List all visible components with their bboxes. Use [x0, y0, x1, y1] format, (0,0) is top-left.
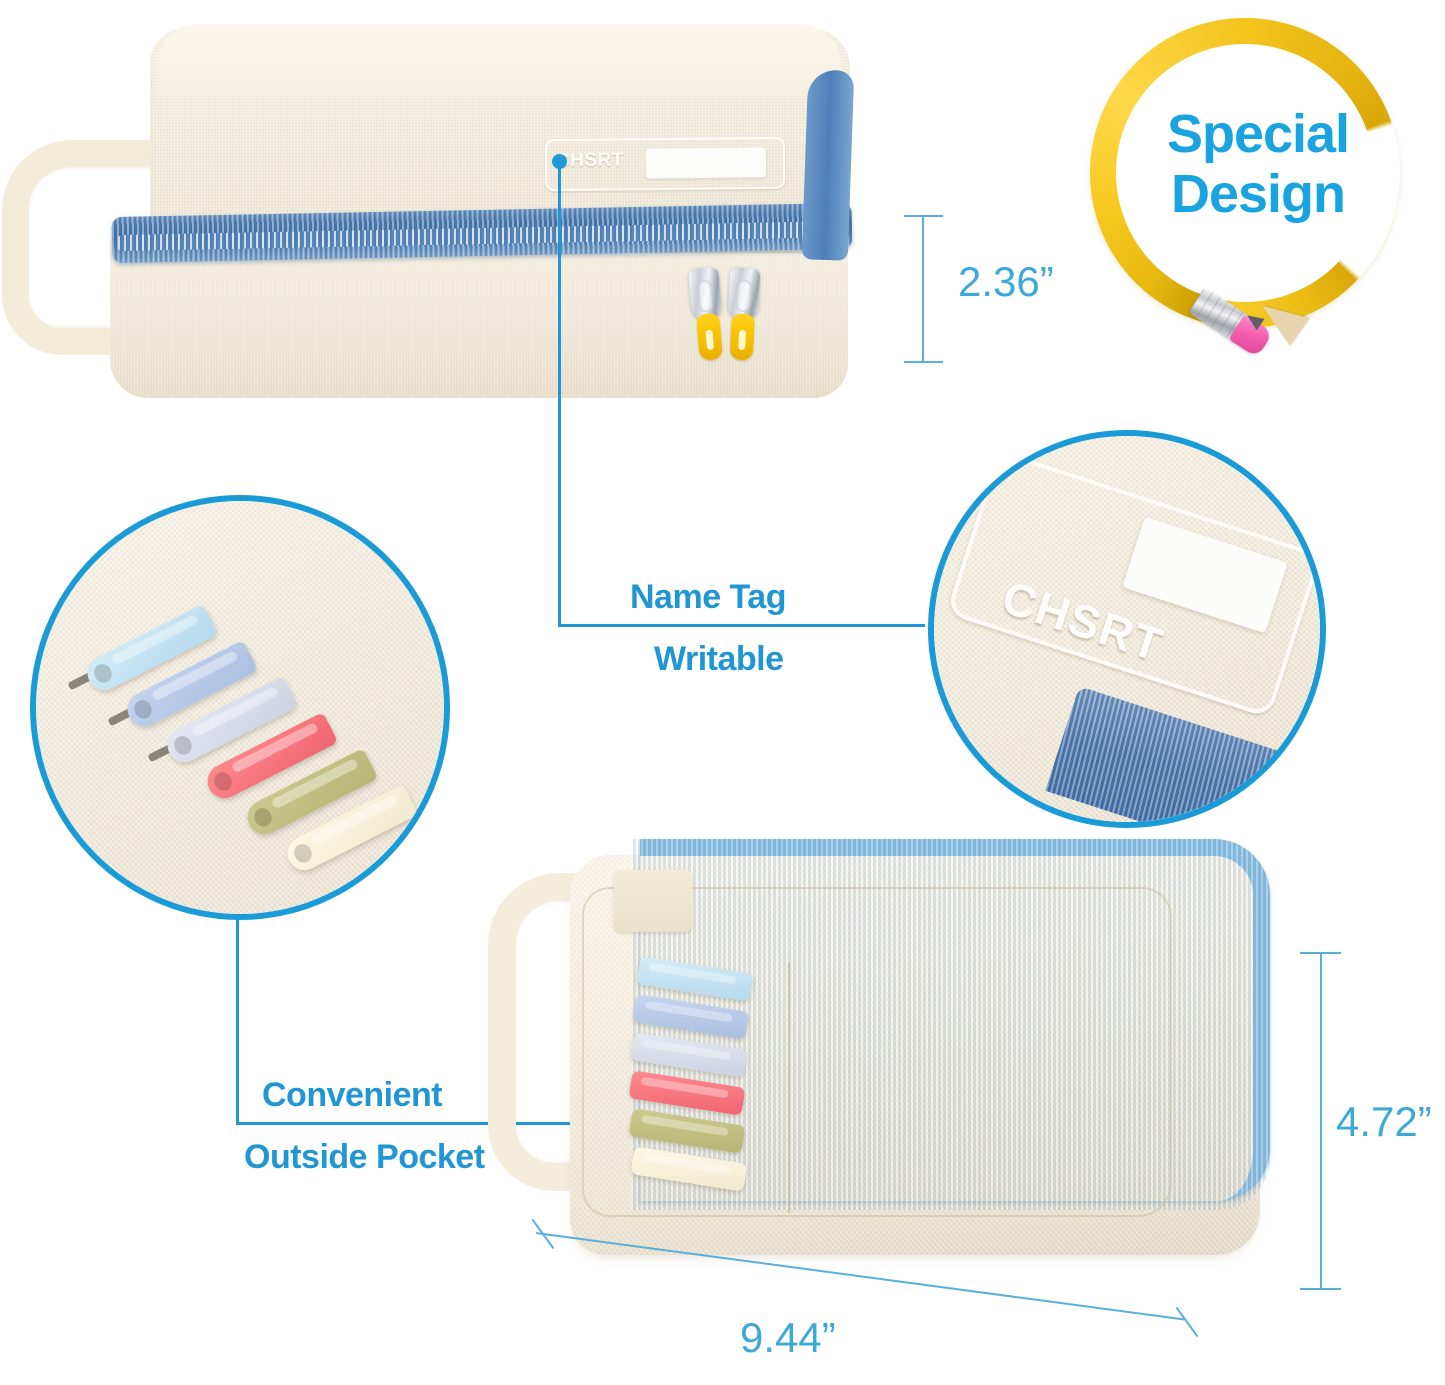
callout-leader-vertical [558, 162, 561, 627]
writable-white-strip [646, 147, 766, 178]
dimension-depth-label: 4.72” [1336, 1098, 1432, 1146]
zipper-slider-icon [728, 267, 761, 320]
zipper-tab-yellow [696, 313, 723, 361]
dimension-cap-bottom [1300, 1288, 1341, 1290]
detail-circle-name-tag: CHSRT [928, 430, 1326, 828]
badge-text: Special Design [1108, 104, 1408, 224]
product-image-closed-case: CHSRT [0, 10, 880, 420]
dimension-cap-top [904, 215, 943, 217]
dimension-cap-right [1176, 1307, 1199, 1337]
badge-line-2: Design [1108, 164, 1408, 224]
callout-name-tag-line1: Name Tag [630, 578, 786, 617]
infographic-canvas: CHSRT Special Design 2.36” [0, 0, 1445, 1385]
dimension-width-label: 9.44” [740, 1314, 836, 1362]
dimension-cap-bottom [904, 361, 943, 363]
detail-circle-content: CHSRT [934, 436, 1320, 822]
detail-circle-content [36, 501, 444, 914]
dimension-line [1320, 952, 1322, 1290]
product-image-pocket-case [490, 815, 1310, 1295]
case-lid-highlight [158, 24, 842, 94]
callout-leader-vertical [236, 915, 239, 1125]
strap-anchor-tab [614, 870, 692, 932]
dimension-cap-top [1300, 952, 1341, 954]
dimension-height-label: 2.36” [958, 258, 1054, 306]
zipper-track-side [802, 69, 855, 260]
zipper-tab-yellow [730, 313, 755, 360]
callout-name-tag-line2: Writable [654, 640, 784, 679]
callout-pocket-line1: Convenient [262, 1076, 442, 1115]
callout-pocket-line2: Outside Pocket [244, 1138, 485, 1177]
detail-circle-pen-loops [30, 495, 450, 920]
dimension-line [922, 215, 924, 363]
badge-line-1: Special [1108, 104, 1408, 164]
zipper-pull-right [724, 267, 763, 361]
callout-leader-horizontal [558, 624, 934, 627]
special-design-badge: Special Design [1062, 8, 1430, 388]
